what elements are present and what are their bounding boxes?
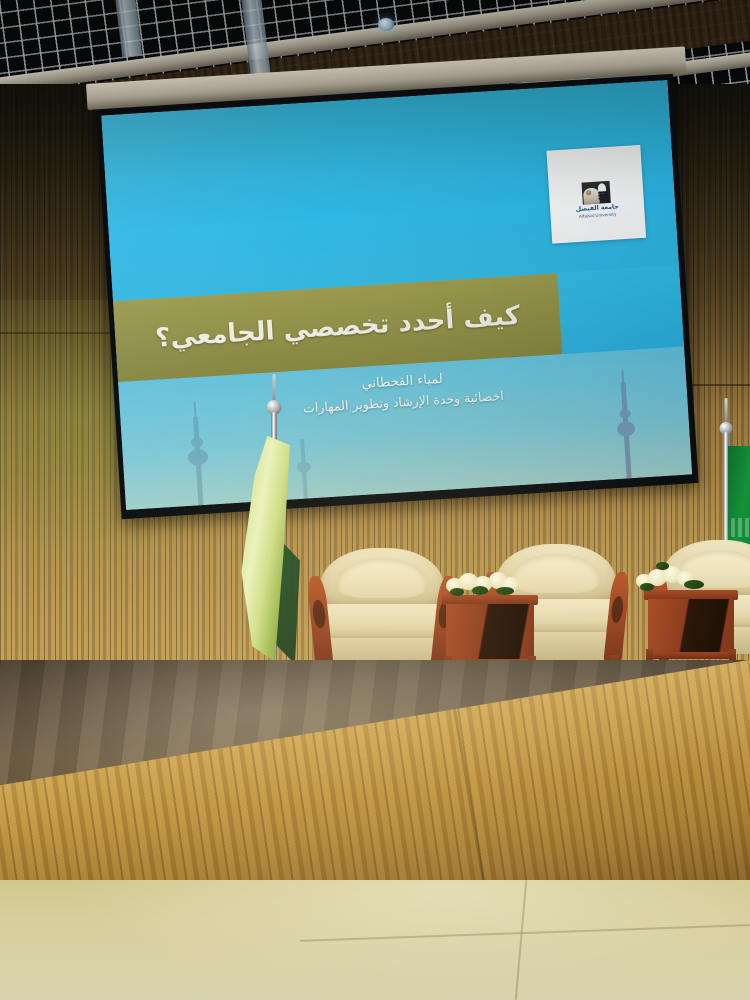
flower-arrangement <box>444 568 522 600</box>
logo-english-text: Alfaisal University <box>579 213 617 220</box>
table-shelf <box>646 652 736 659</box>
slide-band-right <box>557 265 684 353</box>
logo-bar <box>598 191 608 193</box>
table-body <box>446 604 534 659</box>
projection-screen[interactable]: جامعة الفيصل Alfaisal University كيف أحد… <box>96 74 699 519</box>
auditorium-scene: جامعة الفيصل Alfaisal University كيف أحد… <box>0 0 750 1000</box>
flower-arrangement <box>632 562 708 594</box>
table-body <box>648 599 734 652</box>
furled-flag-left <box>238 374 310 690</box>
marble-floor <box>0 880 750 1000</box>
logo-bar <box>599 194 609 196</box>
wall-seam <box>0 332 120 334</box>
flag-finial-spike <box>725 398 728 424</box>
spotlight-icon <box>378 18 394 31</box>
chair-back <box>320 548 443 612</box>
logo-bar <box>599 197 609 199</box>
armchair[interactable] <box>312 548 452 676</box>
marble-sheen <box>0 880 750 1000</box>
logo-face <box>586 190 592 195</box>
wall-seam <box>690 384 750 386</box>
university-logo: جامعة الفيصل Alfaisal University <box>547 145 646 244</box>
screen-surface: جامعة الفيصل Alfaisal University كيف أحد… <box>101 80 692 510</box>
chair-seat <box>318 604 447 642</box>
logo-portrait-photo <box>581 181 611 205</box>
tower-silhouette-icon <box>183 417 214 506</box>
side-table[interactable] <box>644 590 738 666</box>
